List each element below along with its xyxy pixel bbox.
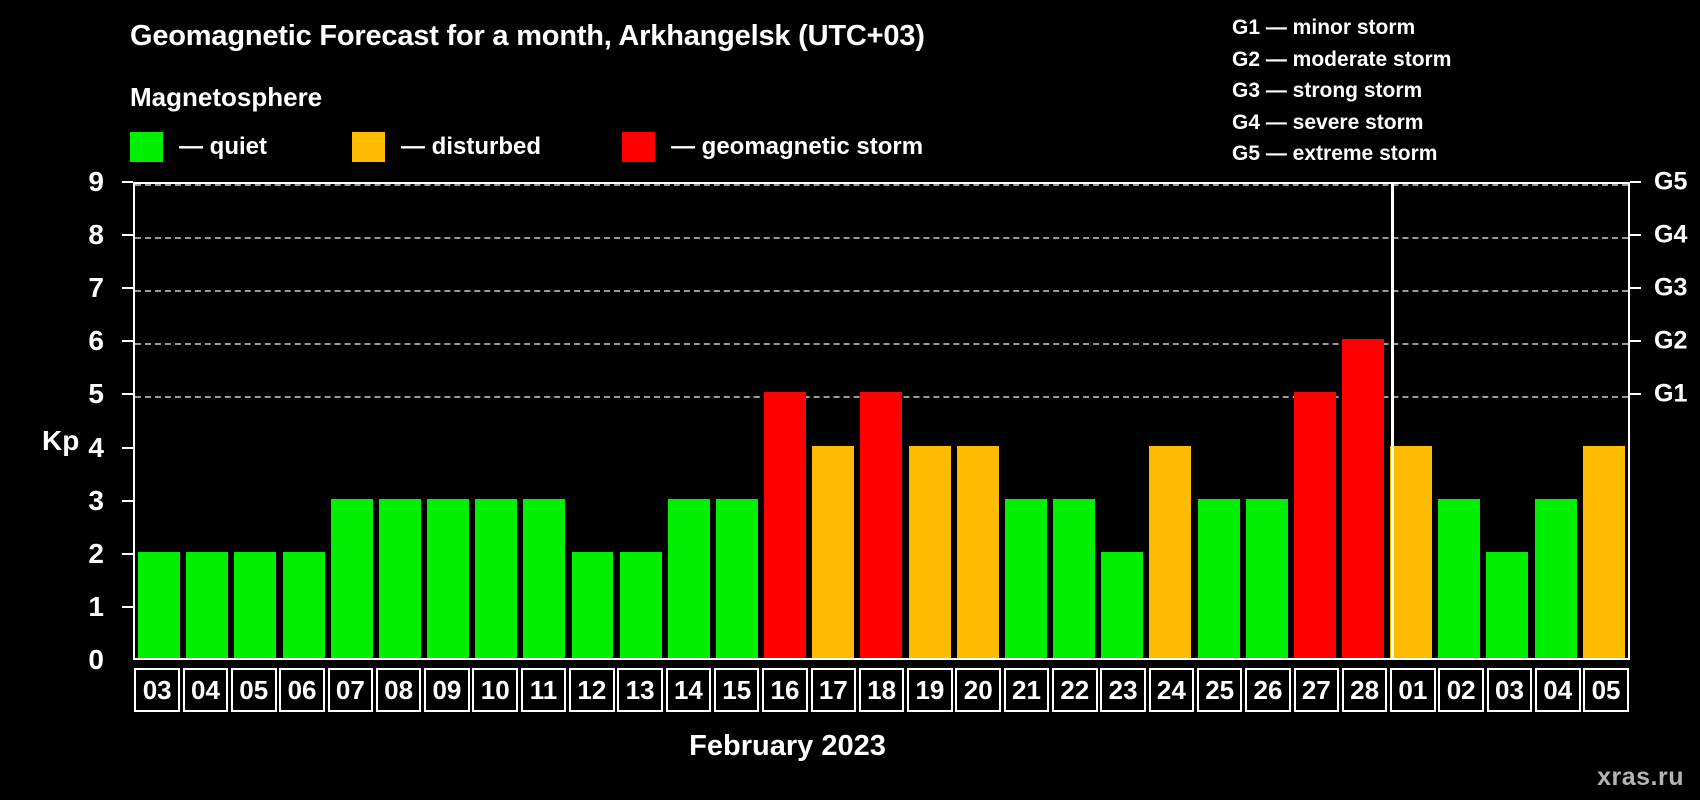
chart-root: Geomagnetic Forecast for a month, Arkhan…: [0, 0, 1700, 800]
day-label-24[interactable]: 24: [1149, 668, 1195, 712]
bar-day-17[interactable]: [812, 446, 854, 658]
day-label-21[interactable]: 21: [1004, 668, 1050, 712]
bar-slot[interactable]: [328, 184, 376, 658]
g-tick-label-G1: G1: [1654, 380, 1687, 409]
y-tick-label-5: 5: [64, 378, 104, 410]
g-tick-label-G2: G2: [1654, 327, 1687, 356]
bar-slot[interactable]: [617, 184, 665, 658]
y-tick-mark-6: [122, 340, 133, 342]
legend-label-0: — quiet: [179, 133, 267, 161]
bar-day-09[interactable]: [427, 499, 469, 658]
g-tick-label-G3: G3: [1654, 274, 1687, 303]
day-axis: 0304050607080910111213141516171819202122…: [133, 668, 1630, 712]
day-label-16[interactable]: 16: [762, 668, 808, 712]
bar-slot[interactable]: [183, 184, 231, 658]
day-label-27[interactable]: 27: [1294, 668, 1340, 712]
y-tick-label-4: 4: [64, 432, 104, 464]
bars-container: [135, 184, 1628, 658]
g-legend-row-4: G5 — extreme storm: [1232, 138, 1451, 170]
bar-slot[interactable]: [761, 184, 809, 658]
bar-day-24[interactable]: [1149, 446, 1191, 658]
bar-day-15[interactable]: [716, 499, 758, 658]
bar-day-07[interactable]: [331, 499, 373, 658]
x-axis-title: February 2023: [0, 730, 1700, 763]
bar-slot[interactable]: [809, 184, 857, 658]
bar-day-04[interactable]: [1535, 499, 1577, 658]
g-scale-legend: G1 — minor stormG2 — moderate stormG3 — …: [1232, 12, 1451, 170]
bar-slot[interactable]: [472, 184, 520, 658]
bar-day-13[interactable]: [620, 552, 662, 658]
y-tick-label-8: 8: [64, 219, 104, 251]
bar-slot[interactable]: [1050, 184, 1098, 658]
g-tick-label-G4: G4: [1654, 221, 1687, 250]
legend-swatch-icon-2: [622, 132, 655, 162]
day-label-03[interactable]: 03: [1487, 668, 1533, 712]
y-tick-mark-9: [122, 181, 133, 183]
bar-slot[interactable]: [857, 184, 905, 658]
y-tick-label-1: 1: [64, 591, 104, 623]
bar-slot[interactable]: [713, 184, 761, 658]
day-label-18[interactable]: 18: [859, 668, 905, 712]
g-tick-mark-G5: [1630, 181, 1641, 183]
bar-slot[interactable]: [665, 184, 713, 658]
y-tick-mark-4: [122, 447, 133, 449]
bar-slot[interactable]: [1002, 184, 1050, 658]
day-label-19[interactable]: 19: [907, 668, 953, 712]
bar-day-22[interactable]: [1053, 499, 1095, 658]
g-tick-mark-G4: [1630, 234, 1641, 236]
bar-day-03[interactable]: [138, 552, 180, 658]
day-label-07[interactable]: 07: [328, 668, 374, 712]
day-label-03[interactable]: 03: [134, 668, 180, 712]
day-label-04[interactable]: 04: [183, 668, 229, 712]
legend-label-1: — disturbed: [401, 133, 541, 161]
bar-day-14[interactable]: [668, 499, 710, 658]
watermark: xras.ru: [1597, 763, 1684, 792]
y-tick-mark-2: [122, 553, 133, 555]
day-label-01[interactable]: 01: [1390, 668, 1436, 712]
bar-day-20[interactable]: [957, 446, 999, 658]
bar-slot[interactable]: [954, 184, 1002, 658]
bar-day-05[interactable]: [234, 552, 276, 658]
y-tick-label-9: 9: [64, 166, 104, 198]
bar-slot[interactable]: [424, 184, 472, 658]
legend-swatch-icon-0: [130, 132, 163, 162]
legend-swatch-icon-1: [352, 132, 385, 162]
bar-day-11[interactable]: [523, 499, 565, 658]
bar-slot[interactable]: [1243, 184, 1291, 658]
bar-slot[interactable]: [135, 184, 183, 658]
day-label-14[interactable]: 14: [666, 668, 712, 712]
day-label-02[interactable]: 02: [1438, 668, 1484, 712]
g-tick-label-G5: G5: [1654, 168, 1687, 197]
day-label-17[interactable]: 17: [811, 668, 857, 712]
bar-day-18[interactable]: [860, 392, 902, 658]
day-label-04[interactable]: 04: [1535, 668, 1581, 712]
y-tick-label-6: 6: [64, 325, 104, 357]
bar-day-28[interactable]: [1342, 339, 1384, 658]
bar-slot[interactable]: [1194, 184, 1242, 658]
bar-slot[interactable]: [376, 184, 424, 658]
day-label-15[interactable]: 15: [714, 668, 760, 712]
page-title: Geomagnetic Forecast for a month, Arkhan…: [130, 20, 925, 53]
g-legend-row-0: G1 — minor storm: [1232, 12, 1451, 44]
day-label-10[interactable]: 10: [472, 668, 518, 712]
bar-slot[interactable]: [520, 184, 568, 658]
legend-entry-1: — disturbed: [352, 132, 541, 162]
day-label-26[interactable]: 26: [1245, 668, 1291, 712]
x-axis-title-text: February 2023: [689, 730, 886, 762]
bar-slot[interactable]: [1146, 184, 1194, 658]
bar-slot[interactable]: [1483, 184, 1531, 658]
y-tick-label-3: 3: [64, 485, 104, 517]
g-tick-mark-G3: [1630, 287, 1641, 289]
bar-slot[interactable]: [1580, 184, 1628, 658]
bar-slot[interactable]: [1339, 184, 1387, 658]
g-tick-mark-G1: [1630, 393, 1641, 395]
g-legend-row-1: G2 — moderate storm: [1232, 44, 1451, 76]
bar-day-02[interactable]: [1438, 499, 1480, 658]
day-label-09[interactable]: 09: [424, 668, 470, 712]
bar-day-08[interactable]: [379, 499, 421, 658]
bar-day-25[interactable]: [1198, 499, 1240, 658]
bar-day-21[interactable]: [1005, 499, 1047, 658]
bar-day-16[interactable]: [764, 392, 806, 658]
bar-day-03[interactable]: [1486, 552, 1528, 658]
legend-entry-2: — geomagnetic storm: [622, 132, 923, 162]
day-label-06[interactable]: 06: [279, 668, 325, 712]
y-tick-label-7: 7: [64, 272, 104, 304]
y-tick-mark-8: [122, 234, 133, 236]
bar-day-26[interactable]: [1246, 499, 1288, 658]
day-label-25[interactable]: 25: [1197, 668, 1243, 712]
day-label-11[interactable]: 11: [521, 668, 567, 712]
y-tick-label-0: 0: [64, 644, 104, 676]
y-tick-mark-5: [122, 393, 133, 395]
month-divider-line: [1391, 182, 1394, 658]
bar-day-27[interactable]: [1294, 392, 1336, 658]
bar-slot[interactable]: [1532, 184, 1580, 658]
g-legend-row-3: G4 — severe storm: [1232, 107, 1451, 139]
bar-slot[interactable]: [568, 184, 616, 658]
bar-slot[interactable]: [1291, 184, 1339, 658]
g-legend-row-2: G3 — strong storm: [1232, 75, 1451, 107]
bar-day-05[interactable]: [1583, 446, 1625, 658]
legend-label-2: — geomagnetic storm: [671, 133, 923, 161]
day-label-28[interactable]: 28: [1342, 668, 1388, 712]
magnetosphere-label: Magnetosphere: [130, 82, 322, 113]
plot-area: [133, 182, 1630, 660]
day-label-22[interactable]: 22: [1052, 668, 1098, 712]
bar-day-19[interactable]: [909, 446, 951, 658]
day-label-20[interactable]: 20: [955, 668, 1001, 712]
day-label-05[interactable]: 05: [231, 668, 277, 712]
bar-slot[interactable]: [906, 184, 954, 658]
day-label-08[interactable]: 08: [376, 668, 422, 712]
bar-day-12[interactable]: [572, 552, 614, 658]
bar-day-01[interactable]: [1390, 446, 1432, 658]
y-tick-mark-1: [122, 606, 133, 608]
bar-slot[interactable]: [231, 184, 279, 658]
bar-slot[interactable]: [1387, 184, 1435, 658]
day-label-23[interactable]: 23: [1100, 668, 1146, 712]
day-label-05[interactable]: 05: [1583, 668, 1629, 712]
bar-day-04[interactable]: [186, 552, 228, 658]
bar-slot[interactable]: [279, 184, 327, 658]
bar-slot[interactable]: [1098, 184, 1146, 658]
bar-slot[interactable]: [1435, 184, 1483, 658]
bar-day-06[interactable]: [283, 552, 325, 658]
y-tick-mark-7: [122, 287, 133, 289]
y-tick-mark-3: [122, 500, 133, 502]
bar-day-10[interactable]: [475, 499, 517, 658]
g-tick-mark-G2: [1630, 340, 1641, 342]
y-tick-label-2: 2: [64, 538, 104, 570]
day-label-13[interactable]: 13: [617, 668, 663, 712]
bar-day-23[interactable]: [1101, 552, 1143, 658]
legend-entry-0: — quiet: [130, 132, 267, 162]
day-label-12[interactable]: 12: [569, 668, 615, 712]
